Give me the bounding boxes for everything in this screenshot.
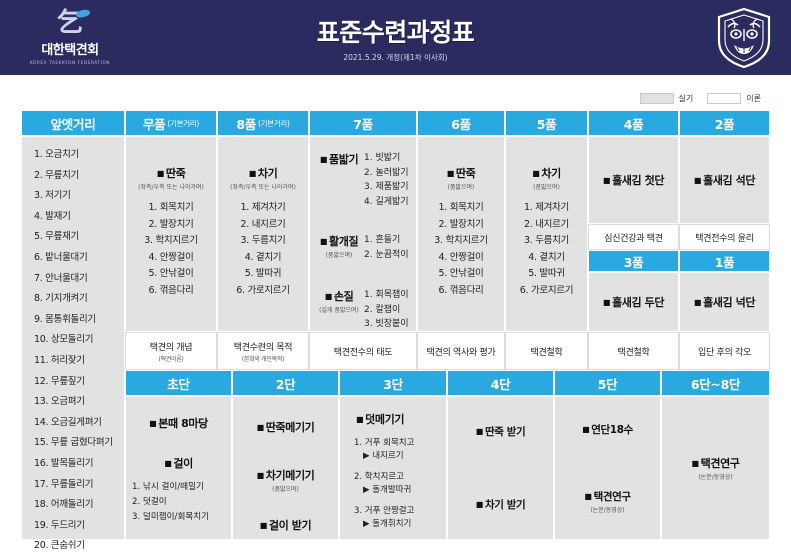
section-note: (품밟으며) xyxy=(418,182,504,191)
square-bullet-icon: ■ xyxy=(320,237,327,246)
section-title: ■딴죽메기기 xyxy=(233,419,338,435)
square-bullet-icon: ■ xyxy=(257,423,264,432)
list-item: 3. 두름치기 xyxy=(218,233,308,250)
list-item: 6. 가로지르기 xyxy=(506,283,587,300)
section-title: ■활개질 xyxy=(314,233,364,249)
list-item: 6. 꺾음다리 xyxy=(418,283,504,300)
list-item: 5. 발따귀 xyxy=(218,266,308,283)
section-note: (품밟으며) xyxy=(233,484,338,493)
section-title: ■홀새김 두단 xyxy=(603,294,664,310)
list-item: 4. 곁치기 xyxy=(506,250,587,267)
col-header-front[interactable]: 앞엣거리 xyxy=(21,110,125,136)
square-bullet-icon: ■ xyxy=(157,169,164,178)
list-item: 2. 놀러밟기 xyxy=(364,166,410,181)
cell-dan4-practice: ■딴죽 받기 ■차기 받기 xyxy=(447,396,554,540)
section-title: ■품밟기 xyxy=(314,151,364,167)
list-item: 4. 길게밟기 xyxy=(364,195,410,210)
section-title: ■본때 8마당 xyxy=(126,415,231,431)
list-item: 4. 안짱걸이 xyxy=(418,250,504,267)
section-title: ■차기 받기 xyxy=(476,497,525,512)
org-name-english: KOREA TAEKKYON FEDERATION xyxy=(14,60,126,65)
list-item: 6. 꺾음다리 xyxy=(126,283,216,300)
theory-text: 택견철학 xyxy=(506,333,587,369)
col-header-pum8[interactable]: 8품(기본거리) xyxy=(217,110,309,136)
section-title: ■차기 xyxy=(218,165,308,181)
theory-cell: 택견수련의 목적(본회와 개인목적) xyxy=(217,332,309,370)
theory-text: 입단 후의 각오 xyxy=(680,333,769,369)
section-note: (좌측/우측 또는 나아가며) xyxy=(126,182,216,191)
theory-text: 택견의 개념(택견이론) xyxy=(126,333,216,369)
list-item: 5. 발따귀 xyxy=(506,266,587,283)
list-item: 2. 발장치기 xyxy=(418,217,504,234)
cell-dan5-practice: ■연단18수 ■택견연구 (논문/동영상) xyxy=(554,396,661,540)
col-header-dan2[interactable]: 2단 xyxy=(232,370,339,396)
curriculum-table: 앞엣거리 무품(기본거리) 8품(기본거리) 7품 6품 5품 4품 2품 1.… xyxy=(21,110,770,540)
square-bullet-icon: ■ xyxy=(584,492,591,501)
cell-pum4-theory: 심신건강과 택견 xyxy=(588,224,679,250)
list-item: 3. 제품밟기 xyxy=(364,180,410,195)
arrow-item: ▶ 돌개발따귀 xyxy=(354,484,446,497)
list-item: 3. 덜미잽이/회목치기 xyxy=(126,510,231,525)
col-header-dan68[interactable]: 6단~8단 xyxy=(661,370,770,396)
theory-cell: 택견철학 xyxy=(505,332,588,370)
section-title: ■딴죽 받기 xyxy=(476,424,525,439)
list-item: 2. 학치지르고 ▶ 돌개발따귀 xyxy=(340,471,446,497)
legend: 실기 이론 xyxy=(640,93,770,104)
list-item: 1. 제겨차기 xyxy=(218,200,308,217)
arrow-item: ▶ 돌개휘치기 xyxy=(354,518,446,531)
numbered-list: 1. 회목치기 2. 발장치기 3. 학치지르기 4. 안짱걸이 5. 안낚걸이… xyxy=(418,200,504,299)
list-item: 3. 거푸 안짱걸고 ▶ 돌개휘치기 xyxy=(340,505,446,531)
logo-mark-icon: 乞 xyxy=(14,8,126,38)
cell-pum2-group: ■홀새김 석단 택견전수의 윤리 1품 ■홀새김 넉단 xyxy=(679,136,770,332)
org-name: 대한택견회 xyxy=(14,39,126,58)
list-item: 2. 내지르기 xyxy=(506,217,587,234)
col-header-pum6[interactable]: 6품 xyxy=(417,110,505,136)
header-row-dan: 초단 2단 3단 4단 5단 6단~8단 xyxy=(21,370,770,396)
group-items: 1. 흔들기 2. 눈끔적이 xyxy=(364,233,410,262)
legend-label-theory: 이론 xyxy=(746,93,761,104)
section-title: ■딴죽 xyxy=(126,165,216,181)
list-item: 1. 제겨차기 xyxy=(506,200,587,217)
theory-cell: 입단 후의 각오 xyxy=(679,332,770,370)
theory-cell: 택견의 개념(택견이론) xyxy=(125,332,217,370)
square-bullet-icon: ■ xyxy=(447,169,454,178)
list-item: 5. 안낚걸이 xyxy=(126,266,216,283)
square-bullet-icon: ■ xyxy=(356,415,363,424)
section-title: ■홀새김 석단 xyxy=(694,172,755,188)
federation-logo: 乞 대한택견회 KOREA TAEKKYON FEDERATION xyxy=(14,8,126,65)
cell-pum4-group: ■홀새김 첫단 심신건강과 택견 3품 ■홀새김 두단 xyxy=(588,136,679,332)
section-title: ■택견연구 xyxy=(691,455,739,471)
list-item: 6. 가로지르기 xyxy=(218,283,308,300)
cell-pum5-practice: ■차기 (품밟으며) 1. 제겨차기 2. 내지르기 3. 두름치기 4. 곁치… xyxy=(505,136,588,332)
theory-text: 택견전수의 윤리 xyxy=(680,225,769,249)
header-row-pum: 앞엣거리 무품(기본거리) 8품(기본거리) 7품 6품 5품 4품 2품 xyxy=(21,110,770,136)
square-bullet-icon: ■ xyxy=(476,500,483,509)
section-title: ■홀새김 넉단 xyxy=(694,294,755,310)
cell-dan2-practice: ■딴죽메기기 ■차기메기기 (품밟으며) ■걸이 받기 xyxy=(232,396,339,540)
square-bullet-icon: ■ xyxy=(694,298,701,307)
numbered-list: 1. 낚시 걸이/떼밀기 2. 덧걸이 3. 덜미잽이/회목치기 xyxy=(126,480,231,525)
list-item: 2. 내지르기 xyxy=(218,217,308,234)
square-bullet-icon: ■ xyxy=(257,471,264,480)
list-item: 1. 회목잽이 xyxy=(364,288,410,303)
practice-band-dan: ■본때 8마당 ■걸이 1. 낚시 걸이/떼밀기 2. 덧걸이 3. 덜미잽이/… xyxy=(21,396,770,540)
numbered-list: 1. 제겨차기 2. 내지르기 3. 두름치기 4. 곁치기 5. 발따귀 6.… xyxy=(506,200,587,299)
group-label: ■활개질 (품밟으며) xyxy=(314,233,364,259)
col-header-dan3[interactable]: 3단 xyxy=(339,370,447,396)
col-header-pum5[interactable]: 5품 xyxy=(505,110,588,136)
list-item: 1. 흔들기 xyxy=(364,233,410,248)
square-bullet-icon: ■ xyxy=(325,292,332,301)
section-title: ■딴죽 xyxy=(418,165,504,181)
group-label: ■손질 (길게 품밟으며) xyxy=(314,288,364,314)
theory-cell: 택견전수의 태도 xyxy=(309,332,417,370)
list-item: 4. 곁치기 xyxy=(218,250,308,267)
list-item: 3. 두름치기 xyxy=(506,233,587,250)
paired-list: 1. 거푸 회목치고 ▶ 내지르기 2. 학치지르고 ▶ 돌개발따귀 3. 거푸… xyxy=(340,437,446,531)
page-subtitle: 2021.5.29. 개정(제1차 이사회) xyxy=(317,52,475,63)
square-bullet-icon: ■ xyxy=(149,419,156,428)
cell-pum2-theory: 택견전수의 윤리 xyxy=(679,224,770,250)
legend-label-practice: 실기 xyxy=(679,93,694,104)
cell-dan3-practice: ■덧메기기 1. 거푸 회목치고 ▶ 내지르기 2. 학치지르고 ▶ 돌개발따귀… xyxy=(339,396,447,540)
list-item: 1. 낚시 걸이/떼밀기 xyxy=(126,480,231,495)
square-bullet-icon: ■ xyxy=(476,427,483,436)
theory-text: 심신건강과 택견 xyxy=(589,225,678,249)
section-title: ■걸이 xyxy=(126,455,231,471)
cell-pum8-practice: ■차기 (좌측/우측 또는 나아가며) 1. 제겨차기 2. 내지르기 3. 두… xyxy=(217,136,309,332)
cell-mupum-practice: ■딴죽 (좌측/우측 또는 나아가며) 1. 회목치기 2. 발장치기 3. 학… xyxy=(125,136,217,332)
theory-text: 택견전수의 태도 xyxy=(310,333,416,369)
group-items: 1. 빗밟기 2. 놀러밟기 3. 제품밟기 4. 길게밟기 xyxy=(364,151,410,209)
cell-pum7-practice: ■품밟기 1. 빗밟기 2. 놀러밟기 3. 제품밟기 4. 길게밟기 ■활개질… xyxy=(309,136,417,332)
theory-row: 택견의 개념(택견이론) 택견수련의 목적(본회와 개인목적) 택견전수의 태도… xyxy=(21,332,770,370)
list-item: 2. 눈끔적이 xyxy=(364,248,410,263)
list-item: 1. 빗밟기 xyxy=(364,151,410,166)
square-bullet-icon: ■ xyxy=(582,425,589,434)
list-item: 3. 학치지르기 xyxy=(418,233,504,250)
group-pumbalgi: ■품밟기 1. 빗밟기 2. 놀러밟기 3. 제품밟기 4. 길게밟기 xyxy=(314,151,410,209)
section-title: ■걸이 받기 xyxy=(233,517,338,533)
section-title: ■홀새김 첫단 xyxy=(603,172,664,188)
section-note: (논문/동영상) xyxy=(691,472,739,481)
col-header-mupum[interactable]: 무품(기본거리) xyxy=(125,110,217,136)
col-header-pum2[interactable]: 2품 xyxy=(679,110,770,136)
list-item: 1. 회목치기 xyxy=(126,200,216,217)
section-note: (품밟으며) xyxy=(506,182,587,191)
square-bullet-icon: ■ xyxy=(164,459,171,468)
section-note: (품밟으며) xyxy=(314,250,364,259)
square-bullet-icon: ■ xyxy=(603,176,610,185)
cell-pum6-practice: ■딴죽 (품밟으며) 1. 회목치기 2. 발장치기 3. 학치지르기 4. 안… xyxy=(417,136,505,332)
section-title: ■차기 xyxy=(506,165,587,181)
section-title: ■손질 xyxy=(314,288,364,304)
section-note: (논문/동영상) xyxy=(584,505,630,514)
list-item: 1. 회목치기 xyxy=(418,200,504,217)
col-header-dan1[interactable]: 초단 xyxy=(125,370,232,396)
section-title: ■연단18수 xyxy=(582,422,633,437)
cell-pum3-practice: ■홀새김 두단 xyxy=(588,272,679,332)
list-item: 2. 칼잽이 xyxy=(364,303,410,318)
stacked-titles: ■딴죽 받기 ■차기 받기 xyxy=(448,397,553,539)
section-group: ■택견연구 (논문/동영상) xyxy=(691,455,739,481)
group-hwalgaejil: ■활개질 (품밟으며) 1. 흔들기 2. 눈끔적이 xyxy=(314,233,410,262)
list-item: 1. 거푸 회목치고 ▶ 내지르기 xyxy=(340,437,446,463)
square-bullet-icon: ■ xyxy=(320,155,327,164)
section-note: (길게 품밟으며) xyxy=(314,305,364,314)
section-title: ■덧메기기 xyxy=(340,411,446,427)
theory-text: 택견수련의 목적(본회와 개인목적) xyxy=(218,333,308,369)
page-header: 乞 대한택견회 KOREA TAEKKYON FEDERATION 표준수련과정… xyxy=(0,0,791,75)
col-header-dan4[interactable]: 4단 xyxy=(447,370,554,396)
cell-pum4-practice: ■홀새김 첫단 xyxy=(588,136,679,224)
square-bullet-icon: ■ xyxy=(691,459,698,468)
cell-dan1-practice: ■본때 8마당 ■걸이 1. 낚시 걸이/떼밀기 2. 덧걸이 3. 덜미잽이/… xyxy=(125,396,232,540)
list-item: 5. 안낚걸이 xyxy=(418,266,504,283)
cell-pum2-practice: ■홀새김 석단 xyxy=(679,136,770,224)
square-bullet-icon: ■ xyxy=(260,521,267,530)
taekkyon-emblem-icon xyxy=(715,7,773,69)
list-item: 2. 덧걸이 xyxy=(126,495,231,510)
col-header-pum4[interactable]: 4품 xyxy=(588,110,679,136)
square-bullet-icon: ■ xyxy=(603,298,610,307)
list-item: 4. 안짱걸이 xyxy=(126,250,216,267)
section-group: ■택견연구 (논문/동영상) xyxy=(584,489,630,514)
list-item: 3. 학치지르기 xyxy=(126,233,216,250)
theory-cell: 택견의 역사와 평가 xyxy=(417,332,505,370)
numbered-list: 1. 제겨차기 2. 내지르기 3. 두름치기 4. 곁치기 5. 발따귀 6.… xyxy=(218,200,308,299)
legend-swatch-practice xyxy=(640,93,674,104)
cell-pum1-practice: ■홀새김 넉단 xyxy=(679,272,770,332)
col-header-pum3[interactable]: 3품 xyxy=(588,250,679,272)
cell-dan68-practice: ■택견연구 (논문/동영상) xyxy=(661,396,770,540)
square-bullet-icon: ■ xyxy=(532,169,539,178)
square-bullet-icon: ■ xyxy=(694,176,701,185)
col-header-dan5[interactable]: 5단 xyxy=(554,370,661,396)
arrow-item: ▶ 내지르기 xyxy=(354,450,446,463)
list-item: 2. 발장치기 xyxy=(126,217,216,234)
section-title: ■택견연구 xyxy=(584,489,630,504)
page-title: 표준수련과정표 xyxy=(317,13,475,49)
section-note: (좌측/우측 또는 나아가며) xyxy=(218,182,308,191)
practice-band-pum: ■딴죽 (좌측/우측 또는 나아가며) 1. 회목치기 2. 발장치기 3. 학… xyxy=(21,136,770,332)
col-header-pum7[interactable]: 7품 xyxy=(309,110,417,136)
group-label: ■품밟기 xyxy=(314,151,364,168)
title-block: 표준수련과정표 2021.5.29. 개정(제1차 이사회) xyxy=(317,13,475,63)
square-bullet-icon: ■ xyxy=(249,169,256,178)
stacked-titles: ■연단18수 ■택견연구 (논문/동영상) xyxy=(555,397,660,539)
col-header-pum1[interactable]: 1품 xyxy=(679,250,770,272)
section-title: ■차기메기기 xyxy=(233,467,338,483)
legend-swatch-theory xyxy=(707,93,741,104)
theory-cell: 택견철학 xyxy=(588,332,679,370)
theory-text: 택견의 역사와 평가 xyxy=(418,333,504,369)
theory-text: 택견철학 xyxy=(589,333,678,369)
numbered-list: 1. 회목치기 2. 발장치기 3. 학치지르기 4. 안짱걸이 5. 안낚걸이… xyxy=(126,200,216,299)
